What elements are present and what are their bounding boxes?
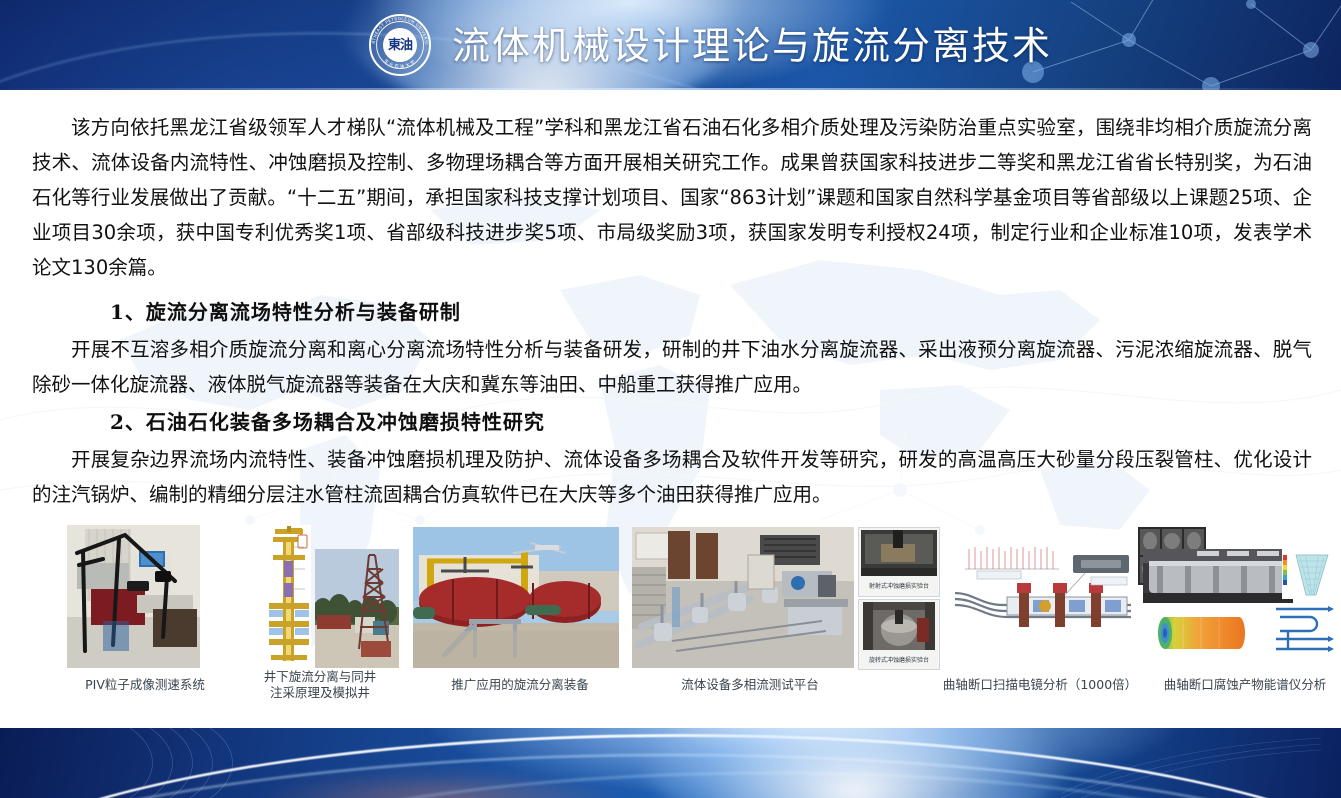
intro-paragraph: 该方向依托黑龙江省级领军人才梯队“流体机械及工程”学科和黑龙江省石油石化多相介质… [32, 110, 1312, 285]
figure-gallery: 射射式冲蚀磨损实验台 旋转式冲蚀磨损实验台 [0, 525, 1341, 685]
downhole-cyclone-schematic [267, 525, 311, 668]
section-1-paragraph: 开展不互溶多相介质旋流分离和离心分离流场特性分析与装备研发，研制的井下油水分离旋… [32, 332, 1312, 402]
jet-erosion-test-rig-photo: 射射式冲蚀磨损实验台 [858, 527, 940, 597]
steam-boiler-photo [1143, 549, 1293, 603]
caption-5: 曲轴断口扫描电镜分析（1000倍） [925, 677, 1155, 693]
gas-velocity-contour [1282, 549, 1334, 599]
fracturing-string-schematic [955, 539, 1135, 654]
jet-rig-inner-label: 射射式冲蚀磨损实验台 [869, 582, 929, 590]
rotary-rig-inner-label: 旋转式冲蚀磨损实验台 [869, 656, 929, 664]
section-2-paragraph: 开展复杂边界流场内流特性、装备冲蚀磨损机理及防护、流体设备多场耦合及软件开发等研… [32, 442, 1312, 512]
multiphase-flow-test-platform-photo [632, 527, 854, 668]
caption-4: 流体设备多相流测试平台 [640, 677, 860, 693]
footer-mesh-left [120, 728, 340, 798]
emblem-founding-year: 1960 [369, 57, 431, 63]
caption-1: PIV粒子成像测速系统 [45, 677, 245, 693]
well-site-derrick-photo [315, 549, 399, 668]
piv-laboratory-photo [67, 525, 200, 668]
slide-root: NORTHEAST PETROLEUM UNIVERSITY 东北石油大学 東油… [0, 0, 1341, 798]
section-1-heading: 1、旋流分离流场特性分析与装备研制 [110, 297, 461, 327]
content-area: 该方向依托黑龙江省级领军人才梯队“流体机械及工程”学科和黑龙江省石油石化多相介质… [0, 90, 1341, 728]
caption-2: 井下旋流分离与同井 注采原理及模拟井 [240, 669, 400, 701]
rotary-erosion-test-rig-photo: 旋转式冲蚀磨损实验台 [858, 599, 940, 670]
flow-path-diagram [1270, 603, 1336, 655]
footer-mesh-right [1061, 734, 1321, 798]
northeast-petroleum-university-emblem: NORTHEAST PETROLEUM UNIVERSITY 东北石油大学 東油… [369, 14, 431, 76]
caption-3: 推广应用的旋流分离装备 [425, 677, 615, 693]
header-banner: NORTHEAST PETROLEUM UNIVERSITY 东北石油大学 東油… [0, 0, 1341, 90]
caption-6: 曲轴断口腐蚀产物能谱仪分析 [1145, 677, 1341, 693]
footer-glow [640, 728, 1070, 798]
network-nodes-decoration [1011, 0, 1341, 90]
footer-banner [0, 728, 1341, 798]
red-separator-vessels-photo [413, 527, 619, 668]
emblem-center-text: 東油 [388, 39, 412, 52]
section-2-heading: 2、石油石化装备多场耦合及冲蚀磨损特性研究 [110, 407, 545, 437]
boiler-temperature-contour [1153, 607, 1249, 659]
page-title: 流体机械设计理论与旋流分离技术 [452, 15, 1052, 77]
